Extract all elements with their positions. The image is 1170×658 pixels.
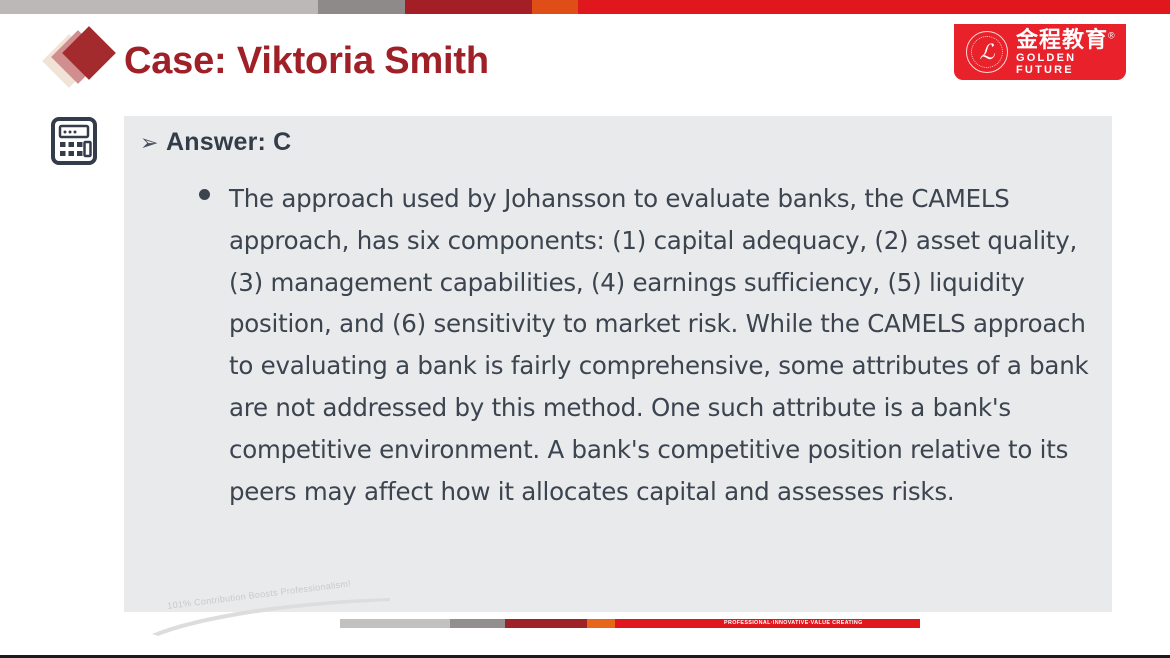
arrow-bullet-icon: ➢	[140, 132, 166, 154]
top-bar-segment-bright-red	[578, 0, 1170, 14]
footer-tagline: PROFESSIONAL·INNOVATIVE·VALUE CREATING	[724, 618, 863, 628]
footer-bar-segment-mid-gray	[450, 619, 505, 628]
brand-text-block: 金程教育® GOLDEN FUTURE	[1016, 28, 1126, 76]
brand-name-cn: 金程教育®	[1016, 28, 1126, 51]
slide-root: Case: Viktoria Smith ℒ 金程教育® GOLDEN FUTU…	[0, 0, 1170, 658]
slide-header: Case: Viktoria Smith ℒ 金程教育® GOLDEN FUTU…	[0, 14, 1170, 100]
footer-bar-segment-orange	[587, 619, 615, 628]
answer-label: Answer: C	[166, 128, 291, 157]
top-bar-segment-dark-red	[405, 0, 532, 14]
footer-bar-segment-light-gray	[340, 619, 450, 628]
brand-name-en: GOLDEN FUTURE	[1016, 52, 1126, 76]
page-title: Case: Viktoria Smith	[124, 40, 489, 83]
calculator-icon	[50, 116, 98, 166]
top-color-bar	[0, 0, 1170, 14]
brand-seal-icon: ℒ	[966, 31, 1008, 73]
content-panel: ➢ Answer: C The approach used by Johanss…	[124, 116, 1112, 612]
registered-mark-icon: ®	[1108, 31, 1116, 41]
explanation-text: The approach used by Johansson to evalua…	[229, 178, 1099, 512]
footer-bar-segment-dark-red	[505, 619, 587, 628]
brand-seal-glyph: ℒ	[979, 42, 994, 63]
top-bar-segment-orange	[532, 0, 578, 14]
top-bar-segment-mid-gray	[318, 0, 405, 14]
dot-bullet-icon	[199, 178, 229, 512]
diamond-logo-icon	[50, 32, 116, 88]
brand-name-cn-text: 金程教育	[1016, 27, 1108, 52]
brand-logo: ℒ 金程教育® GOLDEN FUTURE	[954, 24, 1126, 80]
answer-row: ➢ Answer: C	[140, 128, 291, 157]
top-bar-segment-light-gray	[0, 0, 318, 14]
explanation-row: The approach used by Johansson to evalua…	[199, 178, 1099, 512]
